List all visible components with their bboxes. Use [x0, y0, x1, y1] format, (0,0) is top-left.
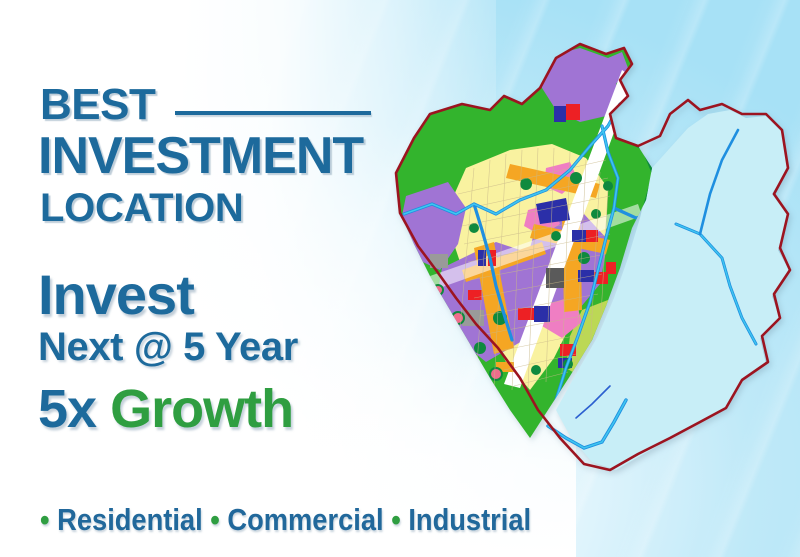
- subhead-invest: Invest: [38, 262, 194, 327]
- bullet-dot-icon-2: •: [210, 502, 220, 537]
- headline-line-investment: INVESTMENT: [38, 126, 363, 186]
- footer-category-list: • Residential • Commercial • Industrial: [40, 502, 531, 538]
- bullet-dot-icon-1: •: [40, 502, 50, 537]
- subhead-growth: 5x Growth: [38, 378, 293, 440]
- headline-line-location: LOCATION: [40, 186, 244, 231]
- growth-multiplier: 5x: [38, 379, 96, 439]
- footer-item-industrial: Industrial: [408, 502, 531, 537]
- headline-block: BEST INVESTMENT LOCATION Invest Next @ 5…: [0, 0, 420, 557]
- footer-item-commercial: Commercial: [227, 502, 383, 537]
- subhead-term: Next @ 5 Year: [38, 325, 298, 370]
- headline-line-best: BEST: [40, 80, 155, 130]
- poster-canvas: BEST INVESTMENT LOCATION Invest Next @ 5…: [0, 0, 800, 557]
- city-master-plan-map: [370, 18, 800, 488]
- headline-underline-rule: [175, 111, 371, 115]
- growth-word: Growth: [110, 379, 293, 439]
- footer-item-residential: Residential: [57, 502, 203, 537]
- bullet-dot-icon-3: •: [391, 502, 401, 537]
